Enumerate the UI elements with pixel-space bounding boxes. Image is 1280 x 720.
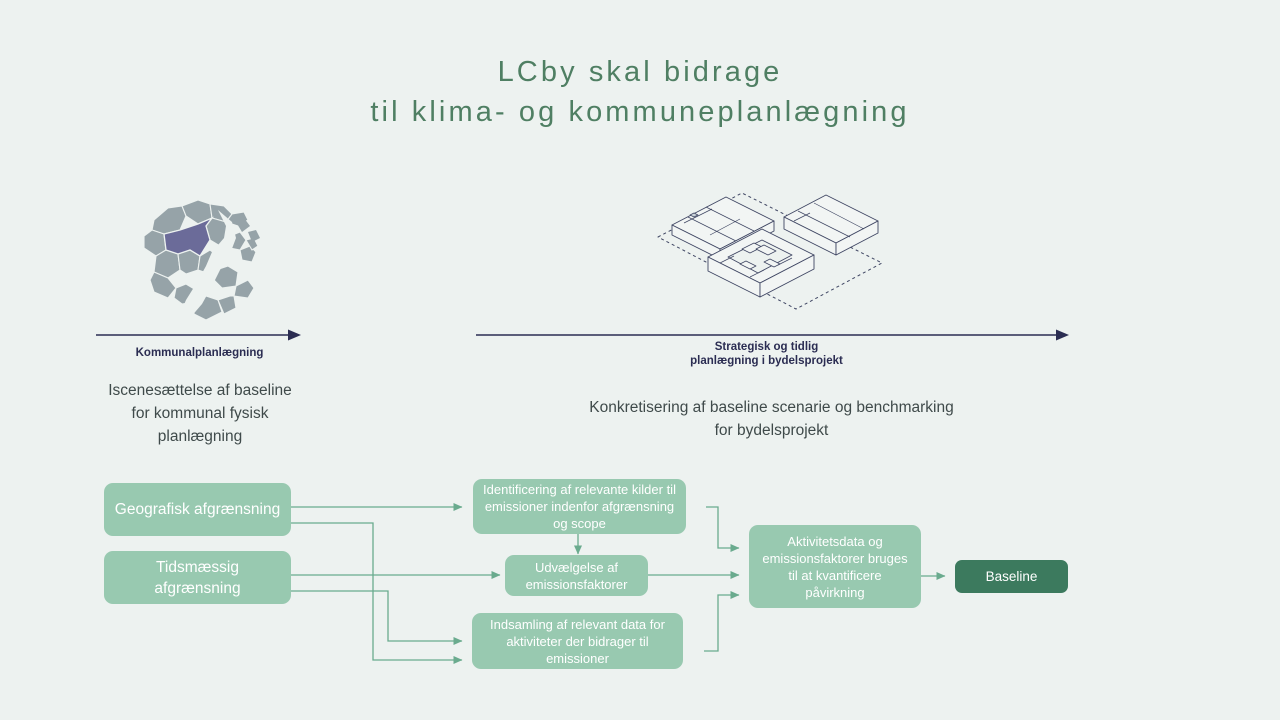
flow-node-baseline[interactable]: Baseline: [955, 560, 1068, 593]
flow-node-udvaelgelse-emissionsfaktorer[interactable]: Udvælgelse af emissionsfaktorer: [505, 555, 648, 596]
page-title: LCby skal bidrage til klima- og kommunep…: [0, 52, 1280, 132]
flow-node-tidsmaessig-afgraensning[interactable]: Tidsmæssig afgrænsning: [104, 551, 291, 604]
isometric-city-blocks-illustration: [650, 185, 890, 320]
timeline-axis-left: [96, 328, 303, 342]
axis-label-strategisk-planlaegning: Strategisk og tidlig planlægning i bydel…: [476, 340, 1057, 368]
axis-label-kommunalplanlaegning: Kommunalplanlægning: [96, 346, 303, 360]
slide-canvas: LCby skal bidrage til klima- og kommunep…: [0, 0, 1280, 720]
flow-node-identificering-kilder[interactable]: Identificering af relevante kilder til e…: [473, 479, 686, 534]
municipality-map-illustration: [120, 192, 280, 327]
stage-description-left: Iscenesættelse af baseline for kommunal …: [80, 379, 320, 448]
flow-node-aktivitetsdata-kvantificere[interactable]: Aktivitetsdata og emissionsfaktorer brug…: [749, 525, 921, 608]
flow-node-indsamling-data[interactable]: Indsamling af relevant data for aktivite…: [472, 613, 683, 669]
flow-diagram: Geografisk afgrænsning Tidsmæssig afgræn…: [0, 455, 1280, 705]
flow-node-geografisk-afgraensning[interactable]: Geografisk afgrænsning: [104, 483, 291, 536]
stage-description-right: Konkretisering af baseline scenarie og b…: [500, 396, 1043, 442]
